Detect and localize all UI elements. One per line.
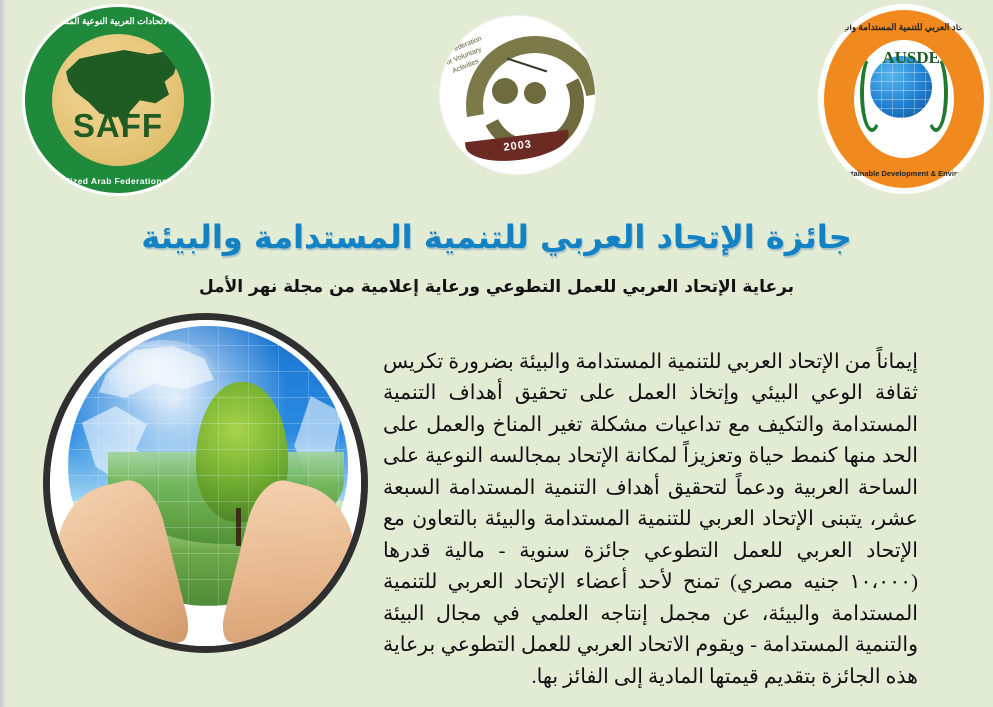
saff-logo-arabic-arc-text: ملتقى الاتحادات العربية النوعية المتخصصة xyxy=(25,16,211,27)
tree-trunk-icon xyxy=(236,508,241,546)
ausde-logo-acronym: AUSDE xyxy=(882,50,940,66)
ausde-logo-arabic-arc-text: الاتحاد العربي للتنمية المستدامة والبيئة xyxy=(824,22,984,33)
afva-logo-icon: Arab Federation For Voluntary Activities… xyxy=(440,16,595,174)
saff-logo-latin-arc-text: Specialized Arab Federations Forum xyxy=(25,176,211,186)
saff-logo-ring: ملتقى الاتحادات العربية النوعية المتخصصة… xyxy=(25,7,211,193)
logo-row: ملتقى الاتحادات العربية النوعية المتخصصة… xyxy=(0,0,993,200)
ausde-logo-disc: AUSDE xyxy=(854,40,954,158)
afva-logo-dot-right xyxy=(524,82,546,104)
ausde-logo-latin-arc-text: Arab Union for Sustainable Development &… xyxy=(824,169,984,178)
flyer-page: ملتقى الاتحادات العربية النوعية المتخصصة… xyxy=(0,0,993,707)
ausde-logo-ring: الاتحاد العربي للتنمية المستدامة والبيئة… xyxy=(824,10,984,188)
award-description-paragraph: إيماناً من الإتحاد العربي للتنمية المستد… xyxy=(383,347,918,694)
ausde-logo-icon: الاتحاد العربي للتنمية المستدامة والبيئة… xyxy=(818,4,990,194)
continent-shape-east xyxy=(290,396,342,488)
continent-shape-west xyxy=(82,406,194,490)
page-title: جائزة الإتحاد العربي للتنمية المستدامة و… xyxy=(0,218,993,256)
glass-highlight xyxy=(108,340,218,410)
saff-logo-acronym: SAFF xyxy=(52,109,184,142)
saff-logo-disc: SAFF xyxy=(52,34,184,166)
page-subtitle: برعاية الإتحاد العربي للعمل التطوعي ورعا… xyxy=(0,277,993,297)
hands-holding-globe-photo xyxy=(43,313,368,653)
saff-logo-icon: ملتقى الاتحادات العربية النوعية المتخصصة… xyxy=(22,4,214,196)
